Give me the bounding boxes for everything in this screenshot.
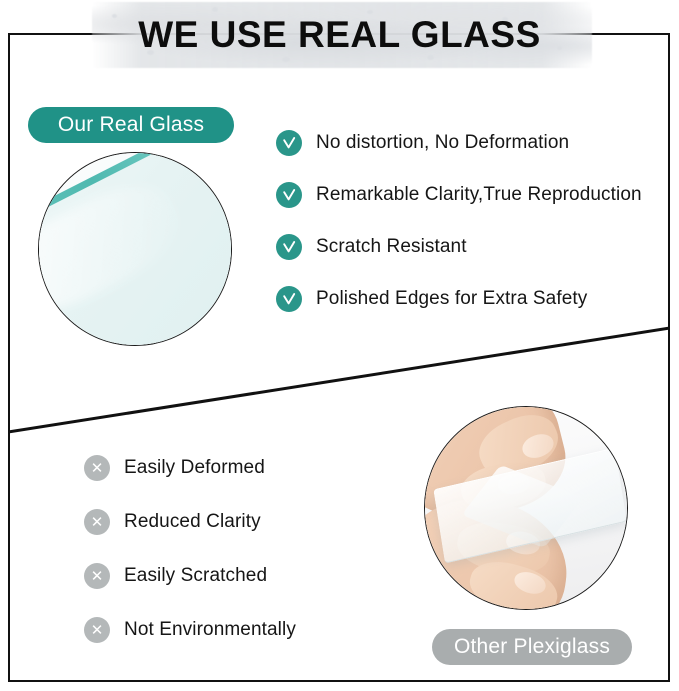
check-icon [276, 286, 302, 312]
plexiglass-bending-hand-photo [424, 406, 628, 610]
infographic-canvas: WE USE REAL GLASS Our Real Glass No dist… [0, 0, 679, 691]
list-item-label: Remarkable Clarity,True Reproduction [316, 184, 642, 206]
list-item: ✕ Not Environmentally [84, 617, 424, 643]
x-icon: ✕ [84, 563, 110, 589]
drawbacks-list: ✕ Easily Deformed ✕ Reduced Clarity ✕ Ea… [84, 455, 424, 671]
list-item-label: Easily Deformed [124, 457, 265, 479]
title-block: WE USE REAL GLASS [0, 0, 679, 72]
check-icon [276, 182, 302, 208]
check-icon [276, 130, 302, 156]
check-icon [276, 234, 302, 260]
list-item: No distortion, No Deformation [276, 130, 672, 156]
x-icon: ✕ [84, 455, 110, 481]
list-item-label: Not Environmentally [124, 619, 296, 641]
badge-other-plexiglass: Other Plexiglass [432, 629, 632, 665]
badge-our-real-glass: Our Real Glass [28, 107, 234, 143]
list-item: ✕ Easily Scratched [84, 563, 424, 589]
list-item-label: Scratch Resistant [316, 236, 467, 258]
list-item-label: No distortion, No Deformation [316, 132, 569, 154]
list-item: ✕ Easily Deformed [84, 455, 424, 481]
list-item: Polished Edges for Extra Safety [276, 286, 672, 312]
benefits-list: No distortion, No Deformation Remarkable… [276, 130, 672, 312]
list-item-label: Polished Edges for Extra Safety [316, 288, 587, 310]
real-glass-corner-photo [38, 152, 232, 346]
list-item-label: Easily Scratched [124, 565, 267, 587]
list-item: Remarkable Clarity,True Reproduction [276, 182, 672, 208]
x-icon: ✕ [84, 617, 110, 643]
page-title: WE USE REAL GLASS [0, 14, 679, 56]
list-item: Scratch Resistant [276, 234, 672, 260]
list-item-label: Reduced Clarity [124, 511, 261, 533]
list-item: ✕ Reduced Clarity [84, 509, 424, 535]
x-icon: ✕ [84, 509, 110, 535]
